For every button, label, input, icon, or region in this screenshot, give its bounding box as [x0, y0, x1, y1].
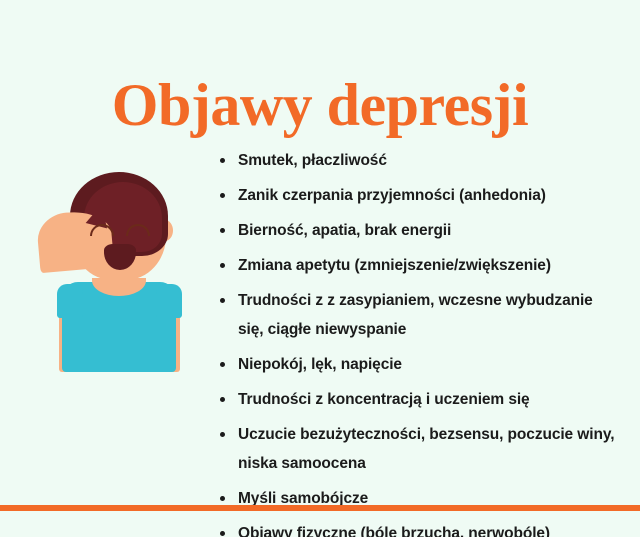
bullet-icon — [220, 158, 225, 163]
list-item: Uczucie bezużyteczności, bezsensu, poczu… — [216, 420, 616, 478]
list-item-label: Zmiana apetytu (zmniejszenie/zwiększenie… — [238, 257, 551, 274]
list-item-label: Trudności z z zasypianiem, wczesne wybud… — [238, 292, 593, 338]
sleeve-right-shape — [156, 284, 182, 318]
bullet-icon — [220, 432, 225, 437]
bullet-icon — [220, 531, 225, 536]
bullet-icon — [220, 228, 225, 233]
bullet-icon — [220, 362, 225, 367]
list-item-label: Trudności z koncentracją i uczeniem się — [238, 391, 530, 408]
list-item-label: Niepokój, lęk, napięcie — [238, 356, 402, 373]
list-item-label: Objawy fizyczne (bóle brzucha, nerwobóle… — [238, 525, 550, 537]
list-item-label: Bierność, apatia, brak energii — [238, 222, 451, 239]
list-item: Trudności z koncentracją i uczeniem się — [216, 385, 616, 414]
list-item: Bierność, apatia, brak energii — [216, 216, 616, 245]
infographic-poster: Objawy depresji Smutek, płaczliwośćZanik… — [0, 0, 640, 537]
list-item: Zanik czerpania przyjemności (anhedonia) — [216, 181, 616, 210]
list-item-label: Smutek, płaczliwość — [238, 152, 387, 169]
bullet-icon — [220, 397, 225, 402]
list-item-label: Uczucie bezużyteczności, bezsensu, poczu… — [238, 426, 614, 472]
list-item: Objawy fizyczne (bóle brzucha, nerwobóle… — [216, 519, 616, 537]
bottom-accent-rule — [0, 505, 640, 511]
list-item: Zmiana apetytu (zmniejszenie/zwiększenie… — [216, 251, 616, 280]
list-item: Smutek, płaczliwość — [216, 146, 616, 175]
sleeve-left-shape — [57, 284, 83, 318]
page-title: Objawy depresji — [0, 74, 640, 137]
list-item: Trudności z z zasypianiem, wczesne wybud… — [216, 286, 616, 344]
symptom-list: Smutek, płaczliwośćZanik czerpania przyj… — [216, 146, 616, 537]
bullet-icon — [220, 496, 225, 501]
bullet-icon — [220, 193, 225, 198]
list-item: Niepokój, lęk, napięcie — [216, 350, 616, 379]
list-item-label: Zanik czerpania przyjemności (anhedonia) — [238, 187, 546, 204]
bullet-icon — [220, 263, 225, 268]
sad-boy-illustration — [44, 168, 194, 388]
bullet-icon — [220, 298, 225, 303]
